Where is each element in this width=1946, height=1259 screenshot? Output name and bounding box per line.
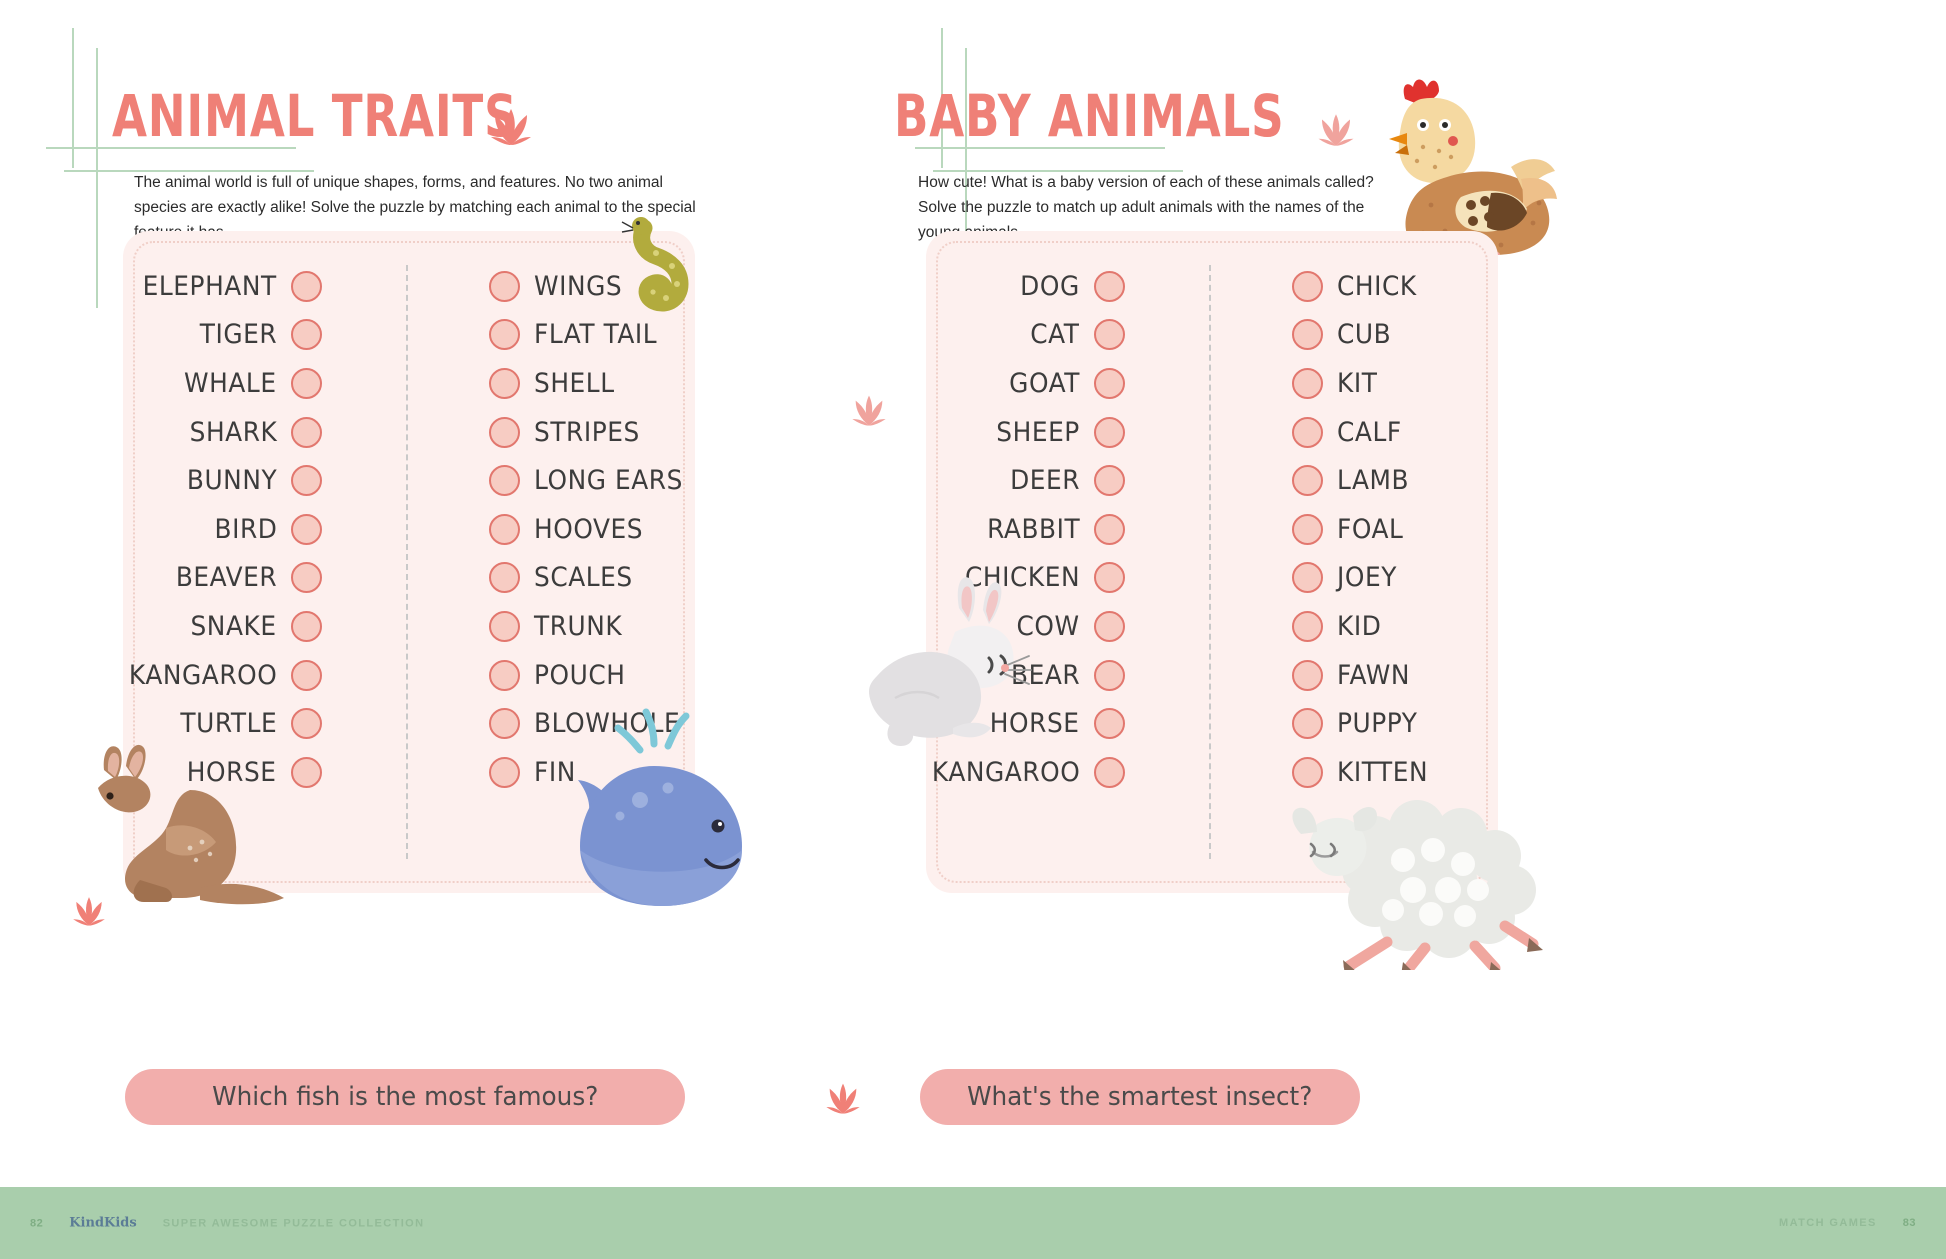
item-label: DOG — [1020, 271, 1080, 302]
item-label: KID — [1337, 611, 1381, 642]
match-dot[interactable] — [291, 368, 322, 399]
item-label: HOOVES — [534, 514, 643, 545]
item-label: BUNNY — [187, 465, 277, 496]
item-label: GOAT — [1009, 368, 1080, 399]
item-label: FAWN — [1337, 660, 1410, 691]
item-label: BEAVER — [176, 562, 277, 593]
list-item[interactable]: RABBIT — [943, 505, 1125, 554]
item-label: COW — [1017, 611, 1080, 642]
item-label: KIT — [1337, 368, 1377, 399]
match-dot[interactable] — [291, 757, 322, 788]
adult-animals-column: DOG CAT GOAT SHEEP DEER RABBIT CHICKEN C… — [943, 262, 1125, 797]
match-dot[interactable] — [291, 417, 322, 448]
item-label: FLAT TAIL — [534, 319, 657, 350]
item-label: KANGAROO — [129, 660, 277, 691]
animals-column: ELEPHANT TIGER WHALE SHARK BUNNY BIRD BE… — [140, 262, 322, 797]
page-number-right: 83 — [1903, 1217, 1916, 1229]
item-label: TURTLE — [180, 708, 277, 739]
list-item[interactable]: TURTLE — [140, 699, 322, 748]
item-label: STRIPES — [534, 417, 640, 448]
list-item[interactable]: PUPPY — [1292, 699, 1492, 748]
list-item[interactable]: FOAL — [1292, 505, 1492, 554]
list-item[interactable]: WHALE — [140, 359, 322, 408]
footer-left: 82 KindKids SUPER AWESOME PUZZLE COLLECT… — [30, 1216, 424, 1231]
list-item[interactable]: KIT — [1292, 359, 1492, 408]
match-dot[interactable] — [1094, 708, 1125, 739]
match-dot[interactable] — [489, 514, 520, 545]
list-item[interactable]: GOAT — [943, 359, 1125, 408]
item-label: LONG EARS — [534, 465, 683, 496]
list-item[interactable]: KITTEN — [1292, 748, 1492, 797]
list-item[interactable]: BEAVER — [140, 554, 322, 603]
sprout-icon — [823, 1070, 863, 1114]
item-label: SHELL — [534, 368, 615, 399]
list-item[interactable]: COW — [943, 602, 1125, 651]
riddle-text: Which fish is the most famous? — [212, 1082, 598, 1112]
match-dot[interactable] — [291, 465, 322, 496]
item-label: WINGS — [534, 271, 622, 302]
item-label: SCALES — [534, 562, 633, 593]
match-dot[interactable] — [1292, 465, 1323, 496]
footer-right: MATCH GAMES 83 — [1779, 1217, 1916, 1229]
book-spread: ANIMAL TRAITS The animal world is full o… — [0, 0, 1946, 1259]
item-label: HORSE — [187, 757, 277, 788]
match-dot[interactable] — [1292, 271, 1323, 302]
item-label: BLOWHOLE — [534, 708, 680, 739]
match-dot[interactable] — [489, 465, 520, 496]
list-item[interactable]: BUNNY — [140, 456, 322, 505]
item-label: SNAKE — [191, 611, 277, 642]
list-item[interactable]: BLOWHOLE — [489, 699, 689, 748]
list-item[interactable]: CHICK — [1292, 262, 1492, 311]
baby-names-column: CHICK CUB KIT CALF LAMB FOAL JOEY KID FA… — [1292, 262, 1492, 797]
item-label: CHICK — [1337, 271, 1417, 302]
list-item[interactable]: DOG — [943, 262, 1125, 311]
match-dot[interactable] — [489, 708, 520, 739]
item-label: SHARK — [189, 417, 277, 448]
list-item[interactable]: TIGER — [140, 311, 322, 360]
list-item[interactable]: KANGAROO — [943, 748, 1125, 797]
list-item[interactable]: SHARK — [140, 408, 322, 457]
item-label: CAT — [1031, 319, 1080, 350]
item-label: SHEEP — [996, 417, 1080, 448]
column-divider — [406, 265, 408, 859]
list-item[interactable]: BIRD — [140, 505, 322, 554]
traits-column: WINGS FLAT TAIL SHELL STRIPES LONG EARS … — [489, 262, 689, 797]
item-label: TIGER — [200, 319, 277, 350]
list-item[interactable]: KID — [1292, 602, 1492, 651]
item-label: HORSE — [990, 708, 1080, 739]
item-label: RABBIT — [987, 514, 1080, 545]
match-dot[interactable] — [1292, 660, 1323, 691]
list-item[interactable]: CAT — [943, 311, 1125, 360]
page-footer: 82 KindKids SUPER AWESOME PUZZLE COLLECT… — [0, 1187, 1946, 1259]
sprout-icon — [70, 884, 108, 926]
item-label: BIRD — [214, 514, 277, 545]
list-item[interactable]: HORSE — [140, 748, 322, 797]
list-item[interactable]: BEAR — [943, 651, 1125, 700]
list-item[interactable]: WINGS — [489, 262, 689, 311]
match-dot[interactable] — [291, 660, 322, 691]
page-title: BABY ANIMALS — [894, 82, 1285, 150]
list-item[interactable]: HOOVES — [489, 505, 689, 554]
list-item[interactable]: LAMB — [1292, 456, 1492, 505]
list-item[interactable]: FAWN — [1292, 651, 1492, 700]
section-label: MATCH GAMES — [1779, 1217, 1877, 1229]
list-item[interactable]: DEER — [943, 456, 1125, 505]
item-label: DEER — [1010, 465, 1080, 496]
list-item[interactable]: SNAKE — [140, 602, 322, 651]
list-item[interactable]: POUCH — [489, 651, 689, 700]
page-title: ANIMAL TRAITS — [112, 82, 517, 150]
list-item[interactable]: KANGAROO — [140, 651, 322, 700]
item-label: CUB — [1337, 319, 1391, 350]
item-label: ELEPHANT — [143, 271, 277, 302]
match-dot[interactable] — [1094, 465, 1125, 496]
list-item[interactable]: STRIPES — [489, 408, 689, 457]
page-number-left: 82 — [30, 1217, 43, 1229]
item-label: POUCH — [534, 660, 625, 691]
match-dot[interactable] — [1292, 368, 1323, 399]
item-label: BEAR — [1011, 660, 1080, 691]
match-dot[interactable] — [1292, 562, 1323, 593]
match-dot[interactable] — [291, 708, 322, 739]
item-label: FIN — [534, 757, 576, 788]
list-item[interactable]: ELEPHANT — [140, 262, 322, 311]
sprout-icon — [1315, 100, 1357, 146]
sprout-icon — [487, 93, 535, 145]
list-item[interactable]: TRUNK — [489, 602, 689, 651]
column-divider — [1209, 265, 1211, 859]
match-dot[interactable] — [1292, 611, 1323, 642]
item-label: TRUNK — [534, 611, 622, 642]
match-dot[interactable] — [1094, 562, 1125, 593]
match-dot[interactable] — [291, 562, 322, 593]
item-label: CHICKEN — [965, 562, 1080, 593]
decor-rule-vertical-inner — [96, 48, 98, 308]
item-label: JOEY — [1337, 562, 1397, 593]
list-item[interactable]: HORSE — [943, 699, 1125, 748]
match-dot[interactable] — [489, 319, 520, 350]
right-page: BABY ANIMALS How cute! What is a baby ve… — [973, 0, 1946, 1259]
match-dot[interactable] — [1292, 514, 1323, 545]
match-dot[interactable] — [1094, 514, 1125, 545]
list-item[interactable]: FLAT TAIL — [489, 311, 689, 360]
match-dot[interactable] — [1094, 660, 1125, 691]
list-item[interactable]: LONG EARS — [489, 456, 689, 505]
list-item[interactable]: SHEEP — [943, 408, 1125, 457]
match-dot[interactable] — [489, 271, 520, 302]
match-dot[interactable] — [489, 660, 520, 691]
match-dot[interactable] — [1094, 271, 1125, 302]
match-dot[interactable] — [1094, 417, 1125, 448]
list-item[interactable]: CUB — [1292, 311, 1492, 360]
match-dot[interactable] — [489, 562, 520, 593]
match-dot[interactable] — [1292, 708, 1323, 739]
item-label: KANGAROO — [932, 757, 1080, 788]
match-dot[interactable] — [1094, 757, 1125, 788]
item-label: WHALE — [184, 368, 277, 399]
match-dot[interactable] — [291, 514, 322, 545]
item-label: KITTEN — [1337, 757, 1428, 788]
match-dot[interactable] — [291, 611, 322, 642]
list-item[interactable]: CALF — [1292, 408, 1492, 457]
riddle-text: What's the smartest insect? — [967, 1082, 1312, 1112]
riddle-banner: Which fish is the most famous? — [125, 1069, 685, 1125]
item-label: FOAL — [1337, 514, 1403, 545]
list-item[interactable]: CHICKEN — [943, 554, 1125, 603]
match-dot[interactable] — [1292, 319, 1323, 350]
list-item[interactable]: FIN — [489, 748, 689, 797]
match-dot[interactable] — [1094, 319, 1125, 350]
match-dot[interactable] — [489, 611, 520, 642]
riddle-banner: What's the smartest insect? — [920, 1069, 1360, 1125]
series-label: SUPER AWESOME PUZZLE COLLECTION — [163, 1217, 425, 1229]
match-dot[interactable] — [489, 417, 520, 448]
item-label: PUPPY — [1337, 708, 1418, 739]
sprout-icon — [849, 382, 889, 426]
match-dot[interactable] — [489, 368, 520, 399]
match-dot[interactable] — [489, 757, 520, 788]
item-label: CALF — [1337, 417, 1402, 448]
match-dot[interactable] — [1292, 417, 1323, 448]
match-dot[interactable] — [291, 271, 322, 302]
match-dot[interactable] — [291, 319, 322, 350]
match-dot[interactable] — [1094, 368, 1125, 399]
match-dot[interactable] — [1292, 757, 1323, 788]
list-item[interactable]: SCALES — [489, 554, 689, 603]
list-item[interactable]: SHELL — [489, 359, 689, 408]
item-label: LAMB — [1337, 465, 1409, 496]
list-item[interactable]: JOEY — [1292, 554, 1492, 603]
brand-label: KindKids — [69, 1216, 136, 1231]
match-dot[interactable] — [1094, 611, 1125, 642]
